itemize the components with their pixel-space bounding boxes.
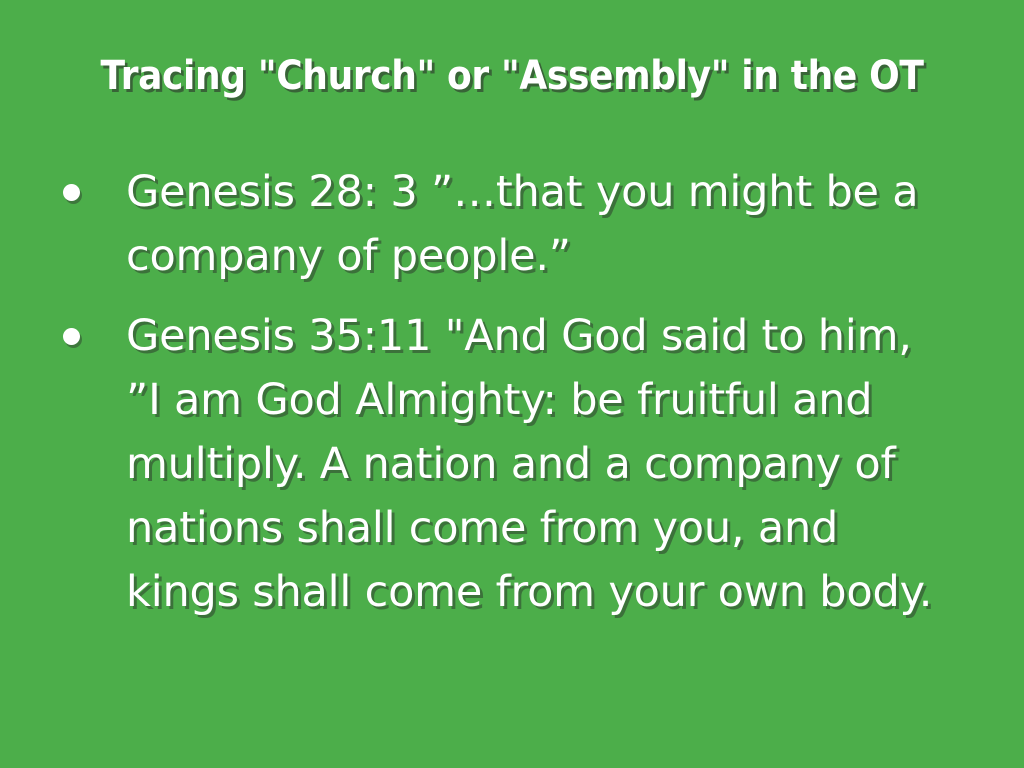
slide-body-bullet-list: Genesis 28: 3 ”…that you might be a comp…	[56, 160, 956, 624]
list-item-text: Genesis 28: 3 ”…that you might be a comp…	[126, 160, 956, 288]
bullet-dot-icon	[63, 328, 80, 345]
list-item: Genesis 35:11 "And God said to him, ”I a…	[56, 304, 956, 624]
list-item: Genesis 28: 3 ”…that you might be a comp…	[56, 160, 956, 288]
list-item-text: Genesis 35:11 "And God said to him, ”I a…	[126, 304, 956, 624]
slide-title: Tracing "Church" or "Assembly" in the OT	[51, 52, 973, 100]
bullet-dot-icon	[63, 184, 80, 201]
presentation-slide: Tracing "Church" or "Assembly" in the OT…	[0, 0, 1024, 768]
